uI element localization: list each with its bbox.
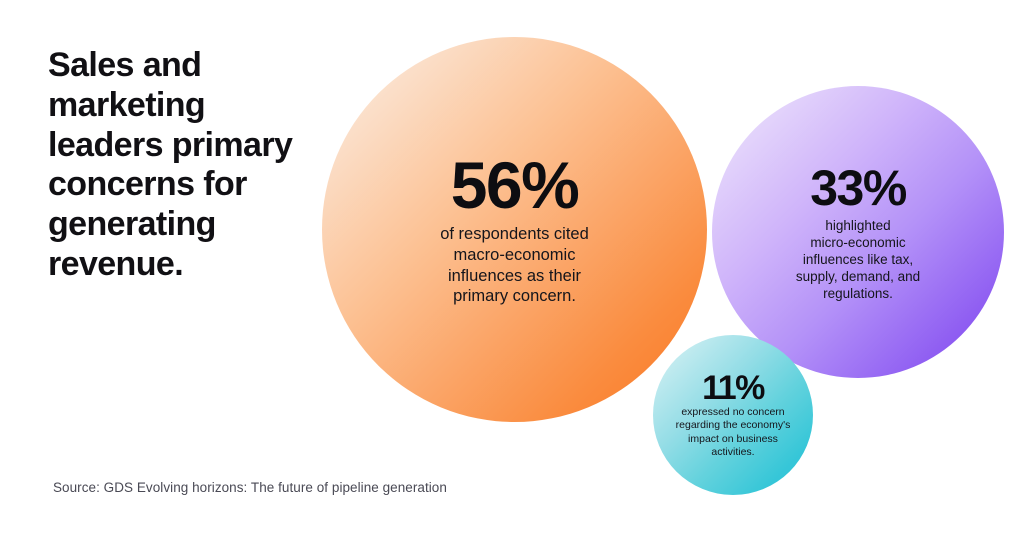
bubble-description-micro-economic: highlighted micro-economic influences li…: [763, 217, 953, 302]
bubble-percent-no-concern: 11%: [702, 371, 764, 405]
bubble-micro-economic: 33% highlighted micro-economic influence…: [712, 86, 1004, 378]
bubble-percent-micro-economic: 33%: [810, 163, 906, 213]
source-citation: Source: GDS Evolving horizons: The futur…: [53, 479, 447, 497]
bubble-macro-economic: 56% of respondents cited macro-economic …: [322, 37, 707, 422]
bubble-no-concern: 11% expressed no concern regarding the e…: [653, 335, 813, 495]
bubble-percent-macro-economic: 56%: [451, 152, 579, 218]
page-title: Sales and marketing leaders primary conc…: [48, 46, 338, 285]
bubble-description-macro-economic: of respondents cited macro-economic infl…: [390, 224, 640, 307]
infographic-canvas: Sales and marketing leaders primary conc…: [0, 0, 1024, 535]
bubble-description-no-concern: expressed no concern regarding the econo…: [665, 406, 801, 459]
